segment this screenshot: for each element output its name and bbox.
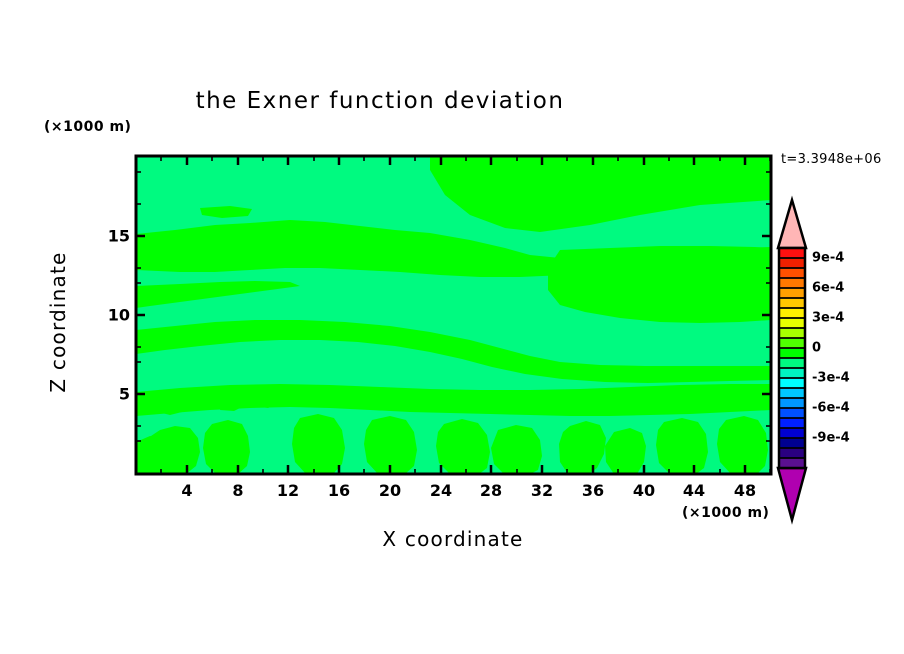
x-tick-label: 40 [633,481,655,500]
contour-plot [0,0,904,654]
colorbar-band-separators [779,258,805,458]
x-tick-label: 20 [379,481,401,500]
colorbar-top-arrow [778,200,806,248]
x-tick-label: 44 [683,481,705,500]
y-tick-label: 15 [104,227,130,246]
colorbar-tick-label: 3e-4 [812,311,844,326]
colorbar-tick-label: 6e-4 [812,281,844,296]
x-tick-label: 24 [430,481,452,500]
y-tick-label: 5 [104,385,130,404]
x-tick-label: 16 [328,481,350,500]
colorbar-bottom-arrow [778,468,806,520]
x-tick-label: 32 [531,481,553,500]
colorbar-tick-label: 0 [812,341,821,356]
x-tick-label: 8 [232,481,243,500]
colorbar[interactable] [778,200,806,520]
y-tick-label: 10 [104,306,130,325]
x-tick-label: 12 [277,481,299,500]
colorbar-tick-label: 9e-4 [812,251,844,266]
figure-canvas: the Exner function deviation (×1000 m) t… [0,0,904,654]
x-tick-label: 48 [734,481,756,500]
x-tick-label: 28 [480,481,502,500]
x-tick-label: 4 [181,481,192,500]
contour-field [136,156,771,474]
x-tick-label: 36 [582,481,604,500]
colorbar-tick-label: -6e-4 [812,401,850,416]
colorbar-tick-label: -3e-4 [812,371,850,386]
colorbar-tick-label: -9e-4 [812,431,850,446]
